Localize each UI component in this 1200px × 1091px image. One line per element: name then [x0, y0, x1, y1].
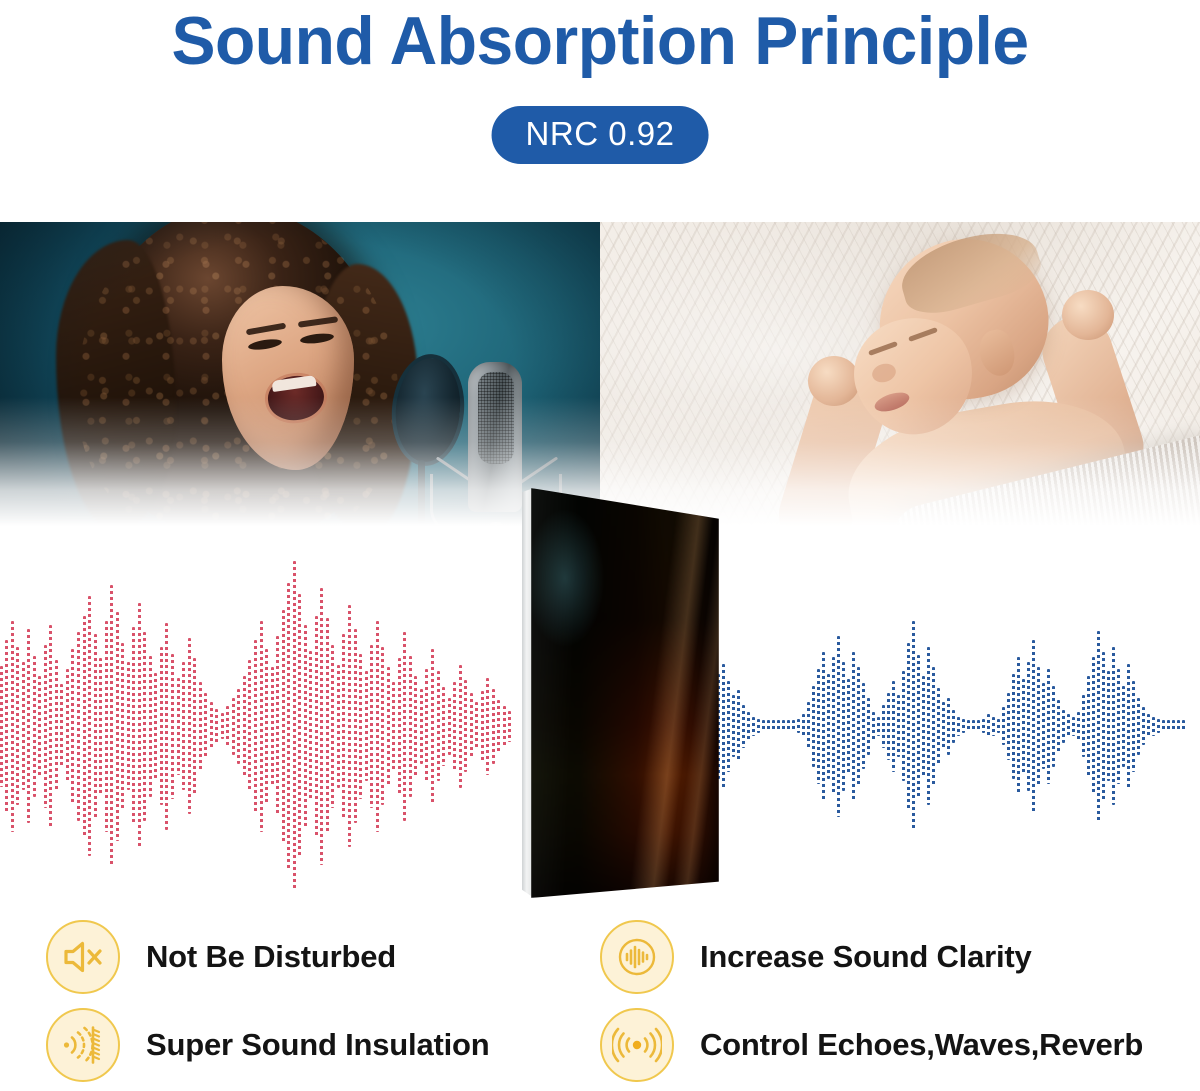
waveform-bar: [1012, 674, 1015, 779]
waveform-bar: [83, 616, 86, 836]
waveform-bar: [932, 667, 935, 786]
waveform-bar: [44, 645, 47, 808]
waveform-bar: [497, 700, 500, 753]
waveform-bar: [1087, 676, 1090, 776]
feature-list: Not Be Disturbed Super Sound Insulation: [0, 912, 1200, 1091]
waveform-bar: [892, 681, 895, 772]
waveform-bar: [337, 665, 340, 788]
waveform-bar: [737, 690, 740, 762]
waveform-bar: [1022, 679, 1025, 774]
waveform-bar: [997, 719, 1000, 733]
waveform-bar: [1072, 717, 1075, 736]
waveform-bar: [403, 632, 406, 821]
waveform-bar: [127, 662, 130, 790]
waveform-bar: [143, 632, 146, 821]
waveform-bar: [857, 667, 860, 786]
waveform-bar: [1002, 707, 1005, 745]
muted-speaker-icon: [46, 920, 120, 994]
waveform-bar: [912, 621, 915, 831]
waveform-bar: [425, 669, 428, 783]
waveform-bar: [370, 645, 373, 808]
waveform-bar: [1082, 695, 1085, 757]
waveform-bar: [165, 623, 168, 830]
waveform-bar: [1172, 720, 1175, 732]
waveform-bar: [132, 627, 135, 825]
waveform-bar: [897, 695, 900, 757]
waveform-bar: [105, 621, 108, 832]
waveform-bar: [492, 689, 495, 764]
feature-label: Control Echoes,Waves,Reverb: [700, 1027, 1143, 1063]
waveform-bar: [762, 720, 765, 732]
waveform-bar: [1067, 714, 1070, 738]
waveform-bar: [822, 652, 825, 800]
waveform-bar: [414, 676, 417, 777]
equalizer-clarity-icon: [600, 920, 674, 994]
radiating-waves-icon: [600, 1008, 674, 1082]
waveform-bar: [448, 698, 451, 755]
waveform-bar: [210, 702, 213, 750]
waveform-bar: [917, 655, 920, 798]
waveform-bar: [138, 603, 141, 849]
waveform-bar: [243, 676, 246, 777]
waveform-bar: [60, 684, 63, 768]
waveform-bar: [237, 689, 240, 764]
waveform-bar: [862, 683, 865, 769]
waveform-bar: [747, 712, 750, 741]
waveform-bar: [967, 720, 970, 732]
waveform-bar: [757, 719, 760, 733]
attenuated-sound-waveform: [712, 596, 1188, 856]
waveform-bar: [304, 625, 307, 827]
waveform-bar: [365, 671, 368, 781]
waveform-bar: [1132, 681, 1135, 772]
waveform-bar: [807, 702, 810, 750]
waveform-bar: [1007, 693, 1010, 760]
waveform-bar: [787, 720, 790, 732]
waveform-bar: [27, 629, 30, 823]
waveform-bar: [49, 625, 52, 827]
waveform-bar: [797, 719, 800, 733]
waveform-bar: [99, 658, 102, 794]
waveform-bar: [1107, 671, 1110, 781]
waveform-bar: [1052, 686, 1055, 767]
waveform-bar: [1157, 719, 1160, 733]
waveform-bar: [276, 636, 279, 816]
waveform-bar: [1182, 720, 1185, 732]
waveform-bar: [902, 671, 905, 781]
baby-fist-left: [808, 356, 860, 406]
waveform-bar: [777, 720, 780, 732]
waveform-bar: [887, 693, 890, 760]
waveform-bar: [193, 658, 196, 794]
feature-control-echoes: Control Echoes,Waves,Reverb: [600, 1008, 1143, 1082]
waveform-bar: [837, 636, 840, 817]
waveform-bar: [381, 647, 384, 805]
waveform-bar: [464, 680, 467, 772]
waveform-bar: [767, 720, 770, 732]
waveform-bar: [331, 645, 334, 808]
waveform-bar: [315, 616, 318, 836]
waveform-bar: [475, 702, 478, 750]
waveform-bar: [1062, 710, 1065, 743]
waveform-bar: [442, 687, 445, 766]
waveform-bar: [952, 710, 955, 743]
acoustic-panel: [505, 488, 735, 918]
waveform-bar: [772, 720, 775, 732]
waveform-bar: [71, 649, 74, 803]
waveform-bar: [254, 640, 257, 812]
page-title: Sound Absorption Principle: [18, 2, 1182, 80]
waveform-bar: [957, 717, 960, 736]
waveform-bar: [177, 678, 180, 775]
waveform-bar: [16, 647, 19, 805]
waveform-bar: [812, 686, 815, 767]
waveform-bar: [293, 561, 296, 891]
waveform-bar: [1177, 720, 1180, 732]
feature-label: Not Be Disturbed: [146, 939, 396, 975]
waveform-bar: [1142, 707, 1145, 745]
waveform-bar: [1097, 631, 1100, 822]
waveform-bar: [248, 660, 251, 792]
waveform-bar: [221, 713, 224, 739]
waveform-bar: [359, 654, 362, 799]
waveform-bar: [5, 640, 8, 812]
waveform-bar: [265, 649, 268, 803]
waveform-bar: [11, 621, 14, 832]
waveform-bar: [802, 714, 805, 738]
waveform-bar: [33, 656, 36, 797]
waveform-bar: [882, 705, 885, 748]
waveform-bar: [1017, 657, 1020, 795]
waveform-bar: [55, 660, 58, 792]
waveform-bar: [437, 671, 440, 781]
waveform-bar: [842, 662, 845, 791]
waveform-bar: [832, 657, 835, 795]
waveform-bar: [481, 691, 484, 761]
waveform-bar: [872, 712, 875, 741]
nrc-badge: NRC 0.92: [492, 106, 709, 164]
waveform-bar: [326, 618, 329, 834]
waveform-bar: [392, 682, 395, 770]
waveform-bar: [77, 632, 80, 821]
waveform-bar: [1102, 652, 1105, 800]
waveform-bar: [877, 717, 880, 736]
waveform-bar: [852, 652, 855, 800]
waveform-bar: [320, 588, 323, 865]
waveform-bar: [947, 698, 950, 755]
waveform-bar: [470, 693, 473, 759]
panel-sheen: [531, 488, 719, 898]
waveform-bar: [121, 643, 124, 810]
waveform-bar: [972, 720, 975, 732]
waveform-bar: [927, 647, 930, 805]
feature-increase-sound-clarity: Increase Sound Clarity: [600, 920, 1032, 994]
baby-fist-right: [1062, 290, 1114, 340]
waveform-bar: [38, 676, 41, 777]
waveform-bar: [1037, 667, 1040, 786]
waveform-bar: [171, 654, 174, 799]
waveform-bar: [287, 583, 290, 869]
waveform-bar: [1047, 669, 1050, 784]
waveform-bar: [232, 698, 235, 755]
waveform-bar: [907, 643, 910, 810]
waveform-bar: [847, 679, 850, 774]
waveform-bar: [188, 638, 191, 814]
waveform-bar: [204, 693, 207, 759]
waveform-bar: [992, 717, 995, 736]
waveform-bar: [977, 720, 980, 732]
waveform-bar: [942, 702, 945, 750]
waveform-bar: [486, 678, 489, 775]
waveform-bar: [1042, 683, 1045, 769]
waveform-bar: [1127, 664, 1130, 788]
waveform-bar: [1032, 640, 1035, 812]
waveform-bar: [431, 649, 434, 803]
waveform-bar: [0, 666, 3, 787]
waveform-bar: [354, 629, 357, 823]
waveform-bar: [752, 717, 755, 736]
waveform-bar: [199, 682, 202, 770]
waveform-bar: [782, 720, 785, 732]
waveform-bar: [376, 621, 379, 832]
waveform-bar: [459, 665, 462, 788]
waveform-bar: [226, 706, 229, 746]
waveform-bar: [149, 656, 152, 797]
waveform-bar: [1077, 712, 1080, 741]
infographic-page: Sound Absorption Principle NRC 0.92: [0, 0, 1200, 1091]
waveform-bar: [387, 667, 390, 786]
waveform-bar: [453, 682, 456, 770]
waveform-bar: [88, 596, 91, 856]
waveform-bar: [792, 720, 795, 732]
waveform-bar: [742, 705, 745, 748]
waveform-bar: [22, 662, 25, 790]
loud-sound-waveform: [0, 540, 514, 912]
waveform-bar: [409, 656, 412, 797]
waveform-bar: [1167, 720, 1170, 732]
waveform-bar: [398, 658, 401, 794]
waveform-bar: [987, 714, 990, 738]
feature-not-be-disturbed: Not Be Disturbed: [46, 920, 396, 994]
feature-super-sound-insulation: Super Sound Insulation: [46, 1008, 490, 1082]
waveform-bar: [1162, 720, 1165, 732]
waveform-bar: [160, 647, 163, 805]
waveform-bar: [1117, 669, 1120, 784]
waveform-bar: [1152, 717, 1155, 736]
waveform-bar: [420, 689, 423, 764]
sound-insulation-wall-icon: [46, 1008, 120, 1082]
waveform-bar: [342, 634, 345, 819]
waveform-bar: [1122, 686, 1125, 767]
waveform-bar: [348, 605, 351, 847]
waveform-bar: [1057, 700, 1060, 753]
waveform-bar: [215, 709, 218, 744]
waveform-bar: [94, 634, 97, 819]
waveform-bar: [827, 674, 830, 779]
feature-label: Increase Sound Clarity: [700, 939, 1032, 975]
waveform-bar: [982, 719, 985, 733]
waveform-bar: [922, 676, 925, 776]
waveform-bar: [1137, 698, 1140, 755]
waveform-bar: [1027, 662, 1030, 791]
waveform-bar: [937, 688, 940, 764]
waveform-bar: [282, 610, 285, 843]
waveform-bar: [1147, 714, 1150, 738]
waveform-bar: [309, 651, 312, 801]
waveform-bar: [66, 669, 69, 783]
waveform-bar: [298, 594, 301, 858]
feature-label: Super Sound Insulation: [146, 1027, 490, 1063]
waveform-bar: [110, 585, 113, 867]
waveform-bar: [1092, 657, 1095, 795]
waveform-bar: [867, 698, 870, 755]
waveform-bar: [154, 673, 157, 779]
waveform-bar: [116, 612, 119, 841]
waveform-bar: [271, 667, 274, 786]
waveform-bar: [817, 669, 820, 784]
waveform-bar: [1112, 647, 1115, 805]
waveform-bar: [182, 662, 185, 790]
waveform-bar: [962, 719, 965, 733]
waveform-bar: [260, 621, 263, 832]
